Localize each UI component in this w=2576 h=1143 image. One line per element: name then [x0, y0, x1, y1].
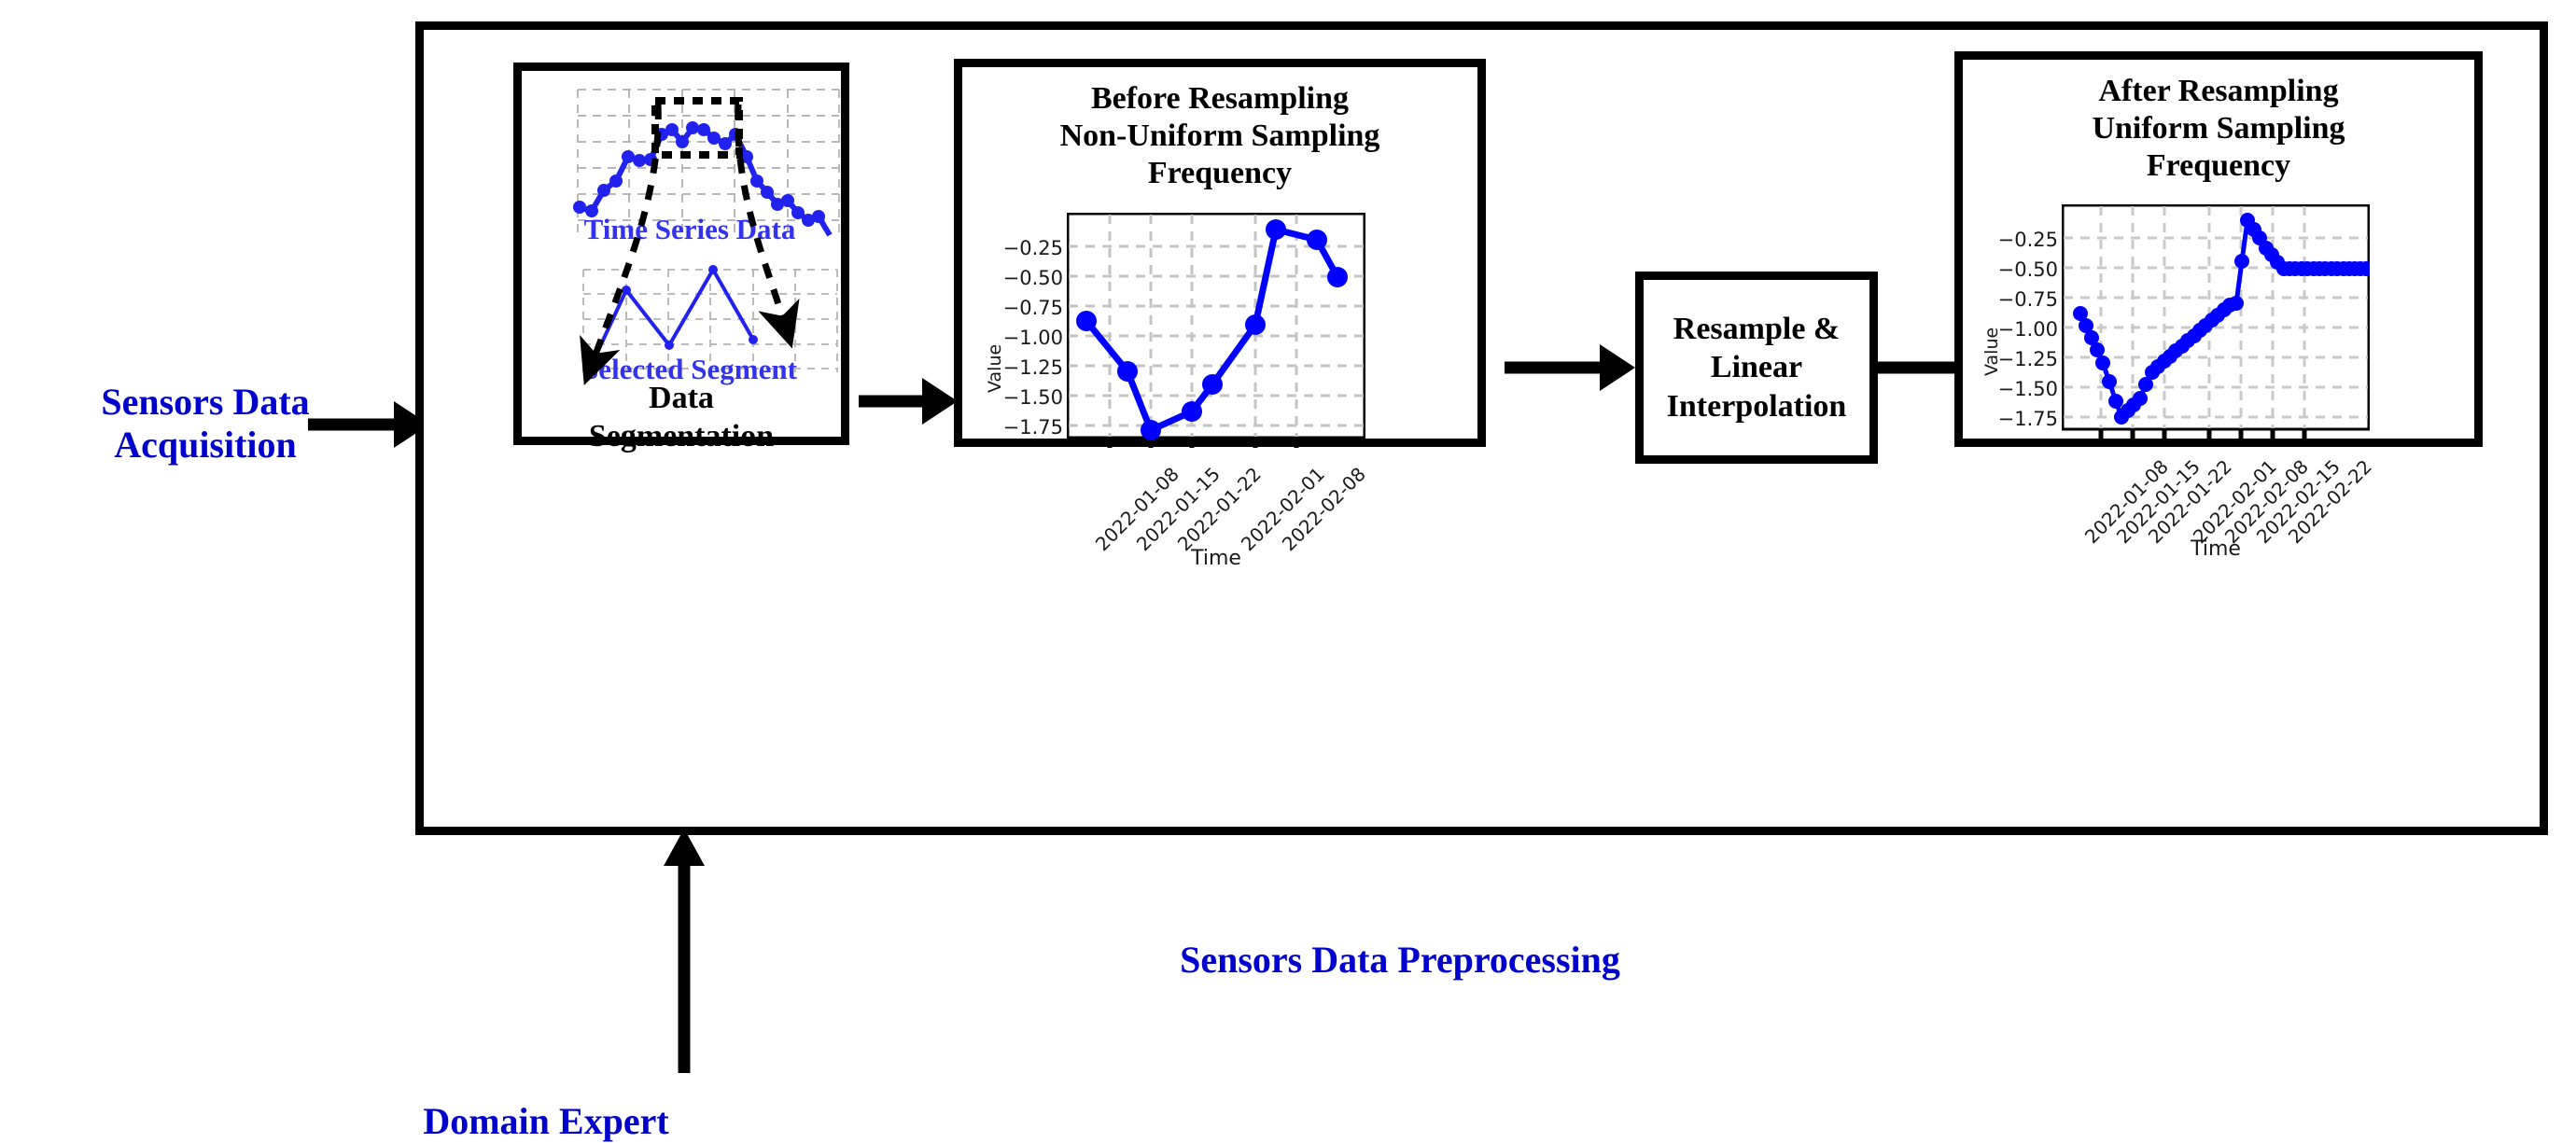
after-ytick-1: −0.50 [1980, 258, 2058, 281]
resample-box-text: Resample & Linear Interpolation [1667, 310, 1847, 425]
before-ytick-6: −1.75 [985, 416, 1063, 439]
after-ytick-3: −1.00 [1980, 318, 2058, 341]
before-title-line-1: Before Resampling [962, 80, 1477, 118]
after-resampling-svg [2062, 204, 2370, 439]
resample-line-3: Interpolation [1667, 387, 1847, 425]
time-series-caption: Time Series Data [522, 213, 858, 246]
segmentation-caption-line-1: Data [522, 380, 841, 418]
after-ytick-6: −1.75 [1980, 408, 2058, 430]
after-x-axis-label: Time [2062, 537, 2370, 561]
after-resampling-panel[interactable]: After Resampling Uniform Sampling Freque… [1954, 51, 2483, 447]
after-ytick-5: −1.50 [1980, 378, 2058, 400]
after-title-line-3: Frequency [1963, 147, 2474, 185]
after-title-line-1: After Resampling [1963, 73, 2474, 110]
before-x-axis-label: Time [1067, 547, 1365, 570]
acquisition-line-1: Sensors Data [9, 381, 401, 424]
before-ytick-2: −0.75 [985, 297, 1063, 319]
data-segmentation-panel[interactable]: Time Series Data [513, 63, 849, 445]
before-ytick-0: −0.25 [985, 237, 1063, 259]
after-ytick-0: −0.25 [1980, 229, 2058, 251]
after-title-line-2: Uniform Sampling [1963, 110, 2474, 147]
selected-segment-mini-chart: Selected Segment [522, 253, 858, 388]
before-ytick-1: −0.50 [985, 267, 1063, 289]
data-segmentation-caption: Data Segmentation [522, 380, 841, 456]
resample-line-2: Linear [1667, 348, 1847, 386]
after-ytick-4: −1.25 [1980, 348, 2058, 370]
after-resampling-plot: Value −0.25 −0.50 −0.75 −1.00 −1.25 −1.5… [1963, 185, 2474, 437]
time-series-mini-chart: Time Series Data [522, 71, 858, 258]
before-resampling-panel[interactable]: Before Resampling Non-Uniform Sampling F… [954, 59, 1486, 447]
arrow-domain-expert-to-segmentation [664, 829, 705, 1076]
before-title-line-3: Frequency [962, 155, 1477, 192]
before-resampling-title: Before Resampling Non-Uniform Sampling F… [962, 67, 1477, 192]
after-resampling-title: After Resampling Uniform Sampling Freque… [1963, 60, 2474, 185]
before-title-line-2: Non-Uniform Sampling [962, 118, 1477, 155]
after-ytick-2: −0.75 [1980, 288, 2058, 311]
before-ytick-3: −1.00 [985, 327, 1063, 349]
before-resampling-plot: Value −0.25 −0.50 −0.75 −1.00 −1.25 −1.5… [962, 192, 1477, 444]
domain-expert-label: Domain Expert [322, 1099, 770, 1143]
before-resampling-svg [1067, 213, 1365, 448]
resample-interpolation-box[interactable]: Resample & Linear Interpolation [1635, 272, 1878, 464]
segmentation-caption-line-2: Segmentation [522, 418, 841, 456]
before-ytick-5: −1.50 [985, 386, 1063, 409]
sensors-data-preprocessing-label: Sensors Data Preprocessing [1073, 938, 1727, 982]
resample-line-1: Resample & [1667, 310, 1847, 348]
before-ytick-4: −1.25 [985, 356, 1063, 379]
